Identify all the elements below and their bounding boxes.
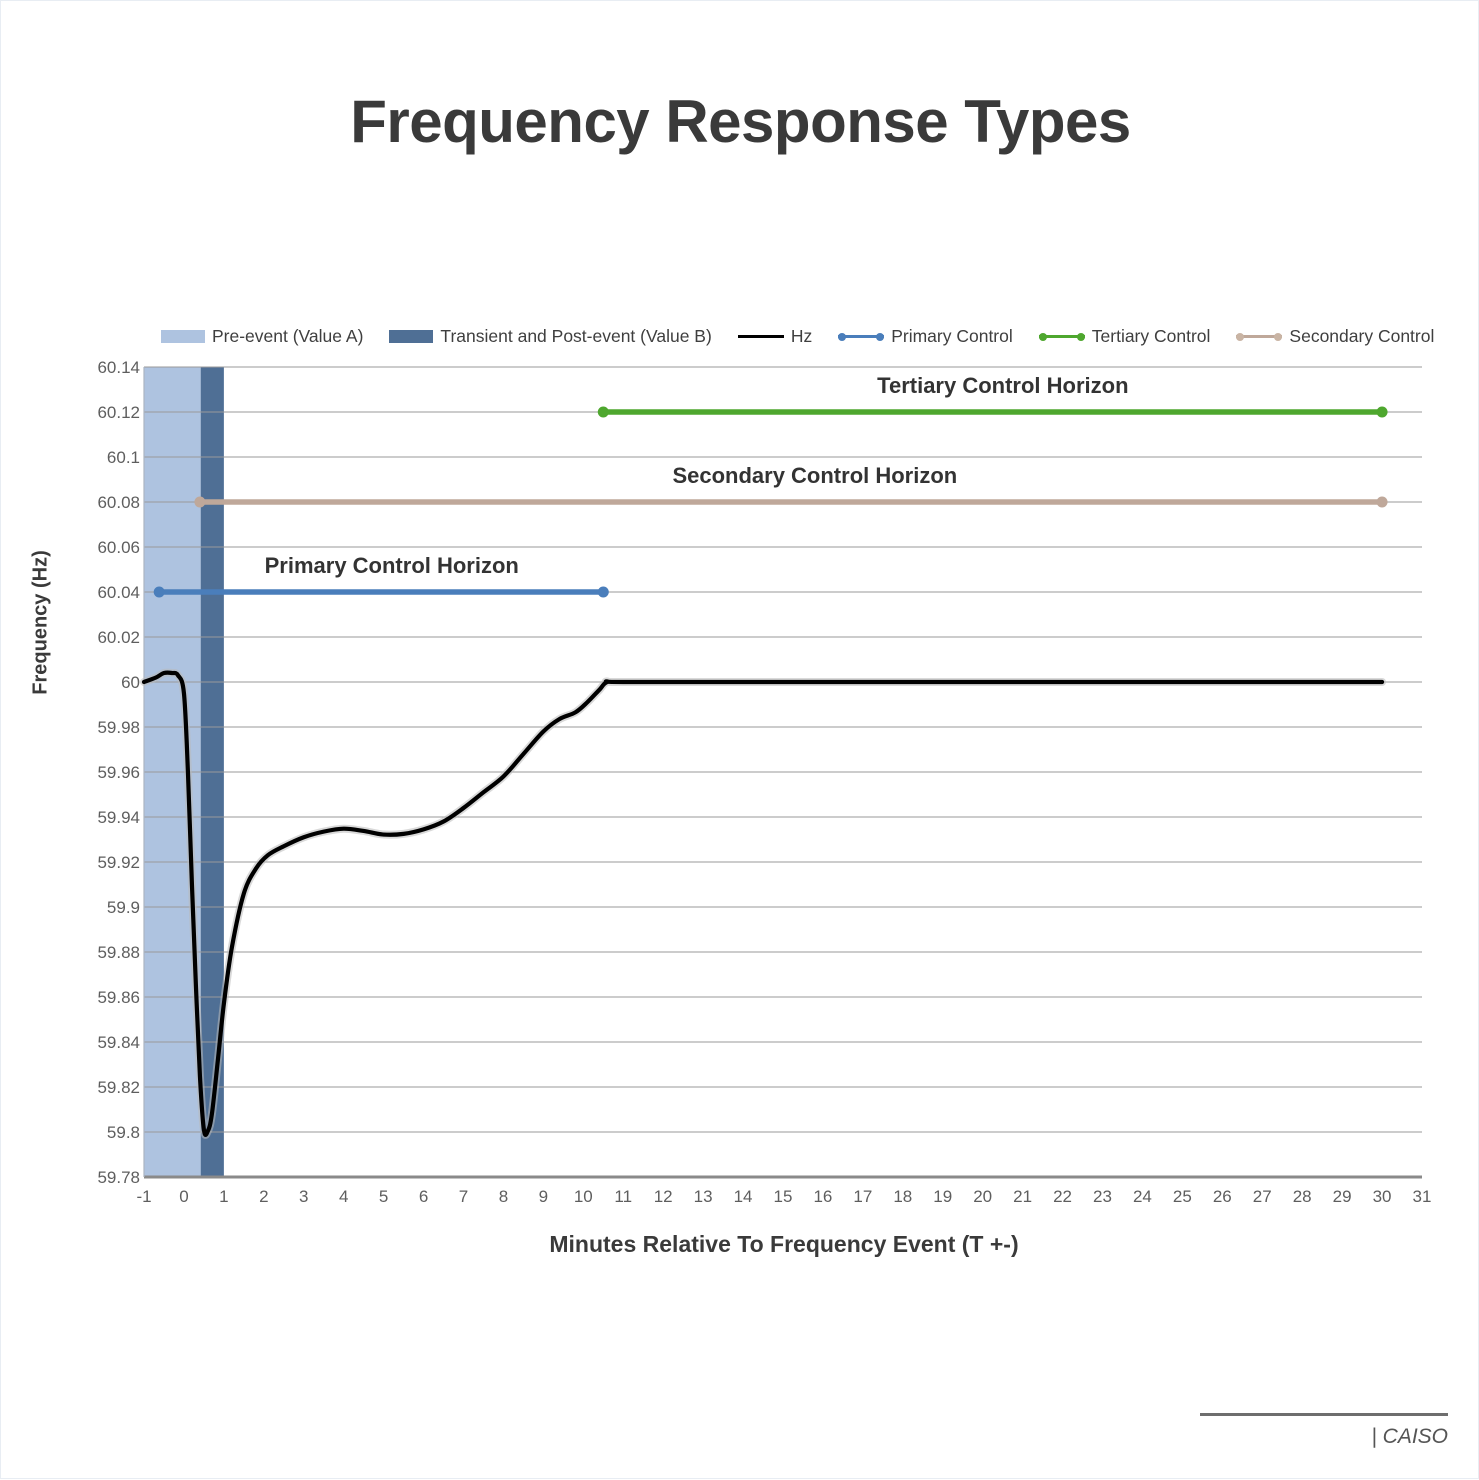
legend-label-tertiary-control: Tertiary Control <box>1092 326 1211 347</box>
x-tick-label: 23 <box>1083 1187 1123 1207</box>
y-tick-label: 59.98 <box>70 718 140 738</box>
chart-svg <box>1 1 1479 1480</box>
x-tick-label: 17 <box>843 1187 883 1207</box>
y-tick-label: 59.78 <box>70 1168 140 1188</box>
x-tick-label: 21 <box>1003 1187 1043 1207</box>
chart-legend: Pre-event (Value A) Transient and Post-e… <box>161 321 1421 351</box>
legend-line-hz <box>738 330 784 342</box>
x-tick-label: 20 <box>963 1187 1003 1207</box>
x-tick-label: 14 <box>723 1187 763 1207</box>
x-tick-label: 12 <box>643 1187 683 1207</box>
x-tick-label: 11 <box>603 1187 643 1207</box>
y-tick-label: 59.86 <box>70 988 140 1008</box>
primary-control-horizon-label: Primary Control Horizon <box>265 553 519 579</box>
event-band-0 <box>144 367 201 1177</box>
x-tick-label: 26 <box>1202 1187 1242 1207</box>
x-tick-label: 4 <box>324 1187 364 1207</box>
y-axis-title: Frequency (Hz) <box>30 523 53 723</box>
horizon-endpoint-0 <box>598 407 609 418</box>
legend-swatch-pre-event <box>161 330 205 343</box>
legend-item-pre-event[interactable]: Pre-event (Value A) <box>161 326 363 347</box>
x-tick-label: 10 <box>563 1187 603 1207</box>
tertiary-control-horizon-label: Tertiary Control Horizon <box>877 373 1128 399</box>
legend-label-secondary-control: Secondary Control <box>1289 326 1434 347</box>
page-title: Frequency Response Types <box>1 87 1479 156</box>
x-tick-label: 1 <box>204 1187 244 1207</box>
legend-item-tertiary-control[interactable]: Tertiary Control <box>1039 326 1211 347</box>
hz-curve <box>144 673 1382 1135</box>
y-tick-label: 60.1 <box>70 448 140 468</box>
y-tick-label: 60.04 <box>70 583 140 603</box>
y-tick-label: 59.96 <box>70 763 140 783</box>
footer-brand: | CAISO <box>1151 1425 1448 1449</box>
horizon-endpoint-0 <box>154 587 165 598</box>
slide-canvas: Frequency Response Types Pre-event (Valu… <box>0 0 1479 1479</box>
x-tick-label: 8 <box>483 1187 523 1207</box>
x-tick-label: 27 <box>1242 1187 1282 1207</box>
x-tick-label: 31 <box>1402 1187 1442 1207</box>
legend-label-transient-post-event: Transient and Post-event (Value B) <box>440 326 711 347</box>
x-tick-label: 6 <box>404 1187 444 1207</box>
x-tick-label: 19 <box>923 1187 963 1207</box>
y-tick-label: 60.08 <box>70 493 140 513</box>
footer-divider <box>1200 1413 1448 1416</box>
x-tick-label: 18 <box>883 1187 923 1207</box>
y-tick-label: 60.02 <box>70 628 140 648</box>
y-tick-label: 59.82 <box>70 1078 140 1098</box>
x-tick-label: 30 <box>1362 1187 1402 1207</box>
legend-item-primary-control[interactable]: Primary Control <box>838 326 1013 347</box>
y-tick-label: 60.14 <box>70 358 140 378</box>
y-tick-label: 59.88 <box>70 943 140 963</box>
legend-line-secondary-control <box>1236 330 1282 342</box>
legend-label-primary-control: Primary Control <box>891 326 1013 347</box>
legend-label-pre-event: Pre-event (Value A) <box>212 326 363 347</box>
hz-curve-shadow <box>144 673 1382 1135</box>
x-tick-label: 3 <box>284 1187 324 1207</box>
x-tick-label: 22 <box>1043 1187 1083 1207</box>
x-tick-label: 9 <box>523 1187 563 1207</box>
x-tick-label: 15 <box>763 1187 803 1207</box>
legend-item-transient-post-event[interactable]: Transient and Post-event (Value B) <box>389 326 711 347</box>
legend-line-primary-control <box>838 330 884 342</box>
y-tick-label: 59.92 <box>70 853 140 873</box>
y-tick-label: 60 <box>70 673 140 693</box>
x-tick-label: 5 <box>364 1187 404 1207</box>
y-tick-label: 59.94 <box>70 808 140 828</box>
x-tick-label: 7 <box>444 1187 484 1207</box>
y-tick-label: 59.84 <box>70 1033 140 1053</box>
x-tick-label: 2 <box>244 1187 284 1207</box>
x-tick-label: 13 <box>683 1187 723 1207</box>
event-band-1 <box>201 367 224 1177</box>
horizon-endpoint-1 <box>1377 497 1388 508</box>
legend-swatch-transient-post-event <box>389 330 433 343</box>
y-tick-label: 59.9 <box>70 898 140 918</box>
x-tick-label: 29 <box>1322 1187 1362 1207</box>
horizon-endpoint-1 <box>598 587 609 598</box>
chart-plot-area: Frequency (Hz) Minutes Relative To Frequ… <box>1 1 1479 1480</box>
y-tick-label: 60.06 <box>70 538 140 558</box>
y-tick-label: 59.8 <box>70 1123 140 1143</box>
x-axis-title: Minutes Relative To Frequency Event (T +… <box>144 1231 1424 1258</box>
horizon-endpoint-0 <box>194 497 205 508</box>
x-tick-label: 24 <box>1122 1187 1162 1207</box>
legend-item-secondary-control[interactable]: Secondary Control <box>1236 326 1434 347</box>
plot-background <box>144 367 1422 1177</box>
x-tick-label: 16 <box>803 1187 843 1207</box>
x-tick-label: 25 <box>1162 1187 1202 1207</box>
secondary-control-horizon-label: Secondary Control Horizon <box>672 463 957 489</box>
x-tick-label: -1 <box>124 1187 164 1207</box>
x-tick-label: 28 <box>1282 1187 1322 1207</box>
legend-line-tertiary-control <box>1039 330 1085 342</box>
x-tick-label: 0 <box>164 1187 204 1207</box>
y-tick-label: 60.12 <box>70 403 140 423</box>
legend-item-hz[interactable]: Hz <box>738 326 812 347</box>
horizon-endpoint-1 <box>1377 407 1388 418</box>
legend-label-hz: Hz <box>791 326 812 347</box>
